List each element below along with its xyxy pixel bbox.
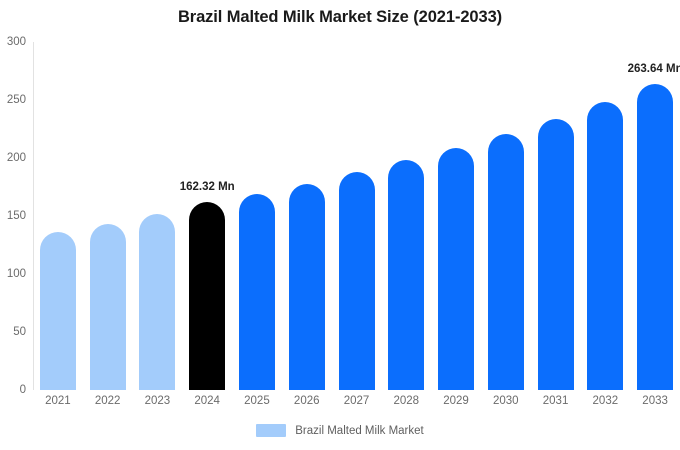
- legend-swatch-brazil-malted-milk-market: [256, 424, 286, 437]
- bar-2033[interactable]: [637, 84, 673, 390]
- bar-2025[interactable]: [239, 194, 275, 390]
- x-axis-tick-label: 2024: [182, 394, 232, 408]
- bar-2024[interactable]: [189, 202, 225, 390]
- x-axis-tick-label: 2032: [580, 394, 630, 408]
- y-axis-tick-label: 50: [1, 326, 33, 338]
- x-axis-tick-label: 2023: [133, 394, 183, 408]
- legend-label-brazil-malted-milk-market: Brazil Malted Milk Market: [295, 425, 423, 437]
- bar-2027[interactable]: [339, 172, 375, 390]
- x-axis-tick-label: 2022: [83, 394, 133, 408]
- bar-2026[interactable]: [289, 184, 325, 390]
- bar-2028[interactable]: [388, 160, 424, 390]
- bar-value-label-2033: 263.64 Mn: [628, 63, 680, 76]
- bar-2032[interactable]: [587, 102, 623, 390]
- bar-2031[interactable]: [538, 119, 574, 390]
- bar-2030[interactable]: [488, 134, 524, 390]
- x-axis-tick-label: 2031: [531, 394, 581, 408]
- x-axis-tick-label: 2033: [630, 394, 680, 408]
- x-axis-tick-label: 2027: [332, 394, 382, 408]
- bar-chart: Brazil Malted Milk Market Size (2021-203…: [0, 0, 680, 450]
- bar-2022[interactable]: [90, 224, 126, 390]
- chart-title: Brazil Malted Milk Market Size (2021-203…: [0, 8, 680, 27]
- y-axis-tick-label: 150: [1, 210, 33, 222]
- bar-2021[interactable]: [40, 232, 76, 390]
- x-axis-tick-label: 2021: [33, 394, 83, 408]
- bar-value-label-2024: 162.32 Mn: [180, 181, 235, 194]
- chart-legend: Brazil Malted Milk Market: [0, 424, 680, 437]
- bar-2029[interactable]: [438, 148, 474, 390]
- y-axis-tick-label: 0: [1, 384, 33, 396]
- y-axis-tick-label: 100: [1, 268, 33, 280]
- x-axis-tick-label: 2025: [232, 394, 282, 408]
- y-axis-tick-label: 300: [1, 36, 33, 48]
- x-axis: 2021202220232024202520262027202820292030…: [33, 394, 680, 412]
- bars-layer: 162.32 Mn263.64 Mn: [33, 42, 680, 390]
- y-axis: 050100150200250300: [0, 42, 33, 390]
- y-axis-tick-label: 250: [1, 94, 33, 106]
- y-axis-tick-label: 200: [1, 152, 33, 164]
- x-axis-tick-label: 2030: [481, 394, 531, 408]
- x-axis-tick-label: 2029: [431, 394, 481, 408]
- x-axis-tick-label: 2026: [282, 394, 332, 408]
- x-axis-tick-label: 2028: [381, 394, 431, 408]
- bar-2023[interactable]: [139, 214, 175, 390]
